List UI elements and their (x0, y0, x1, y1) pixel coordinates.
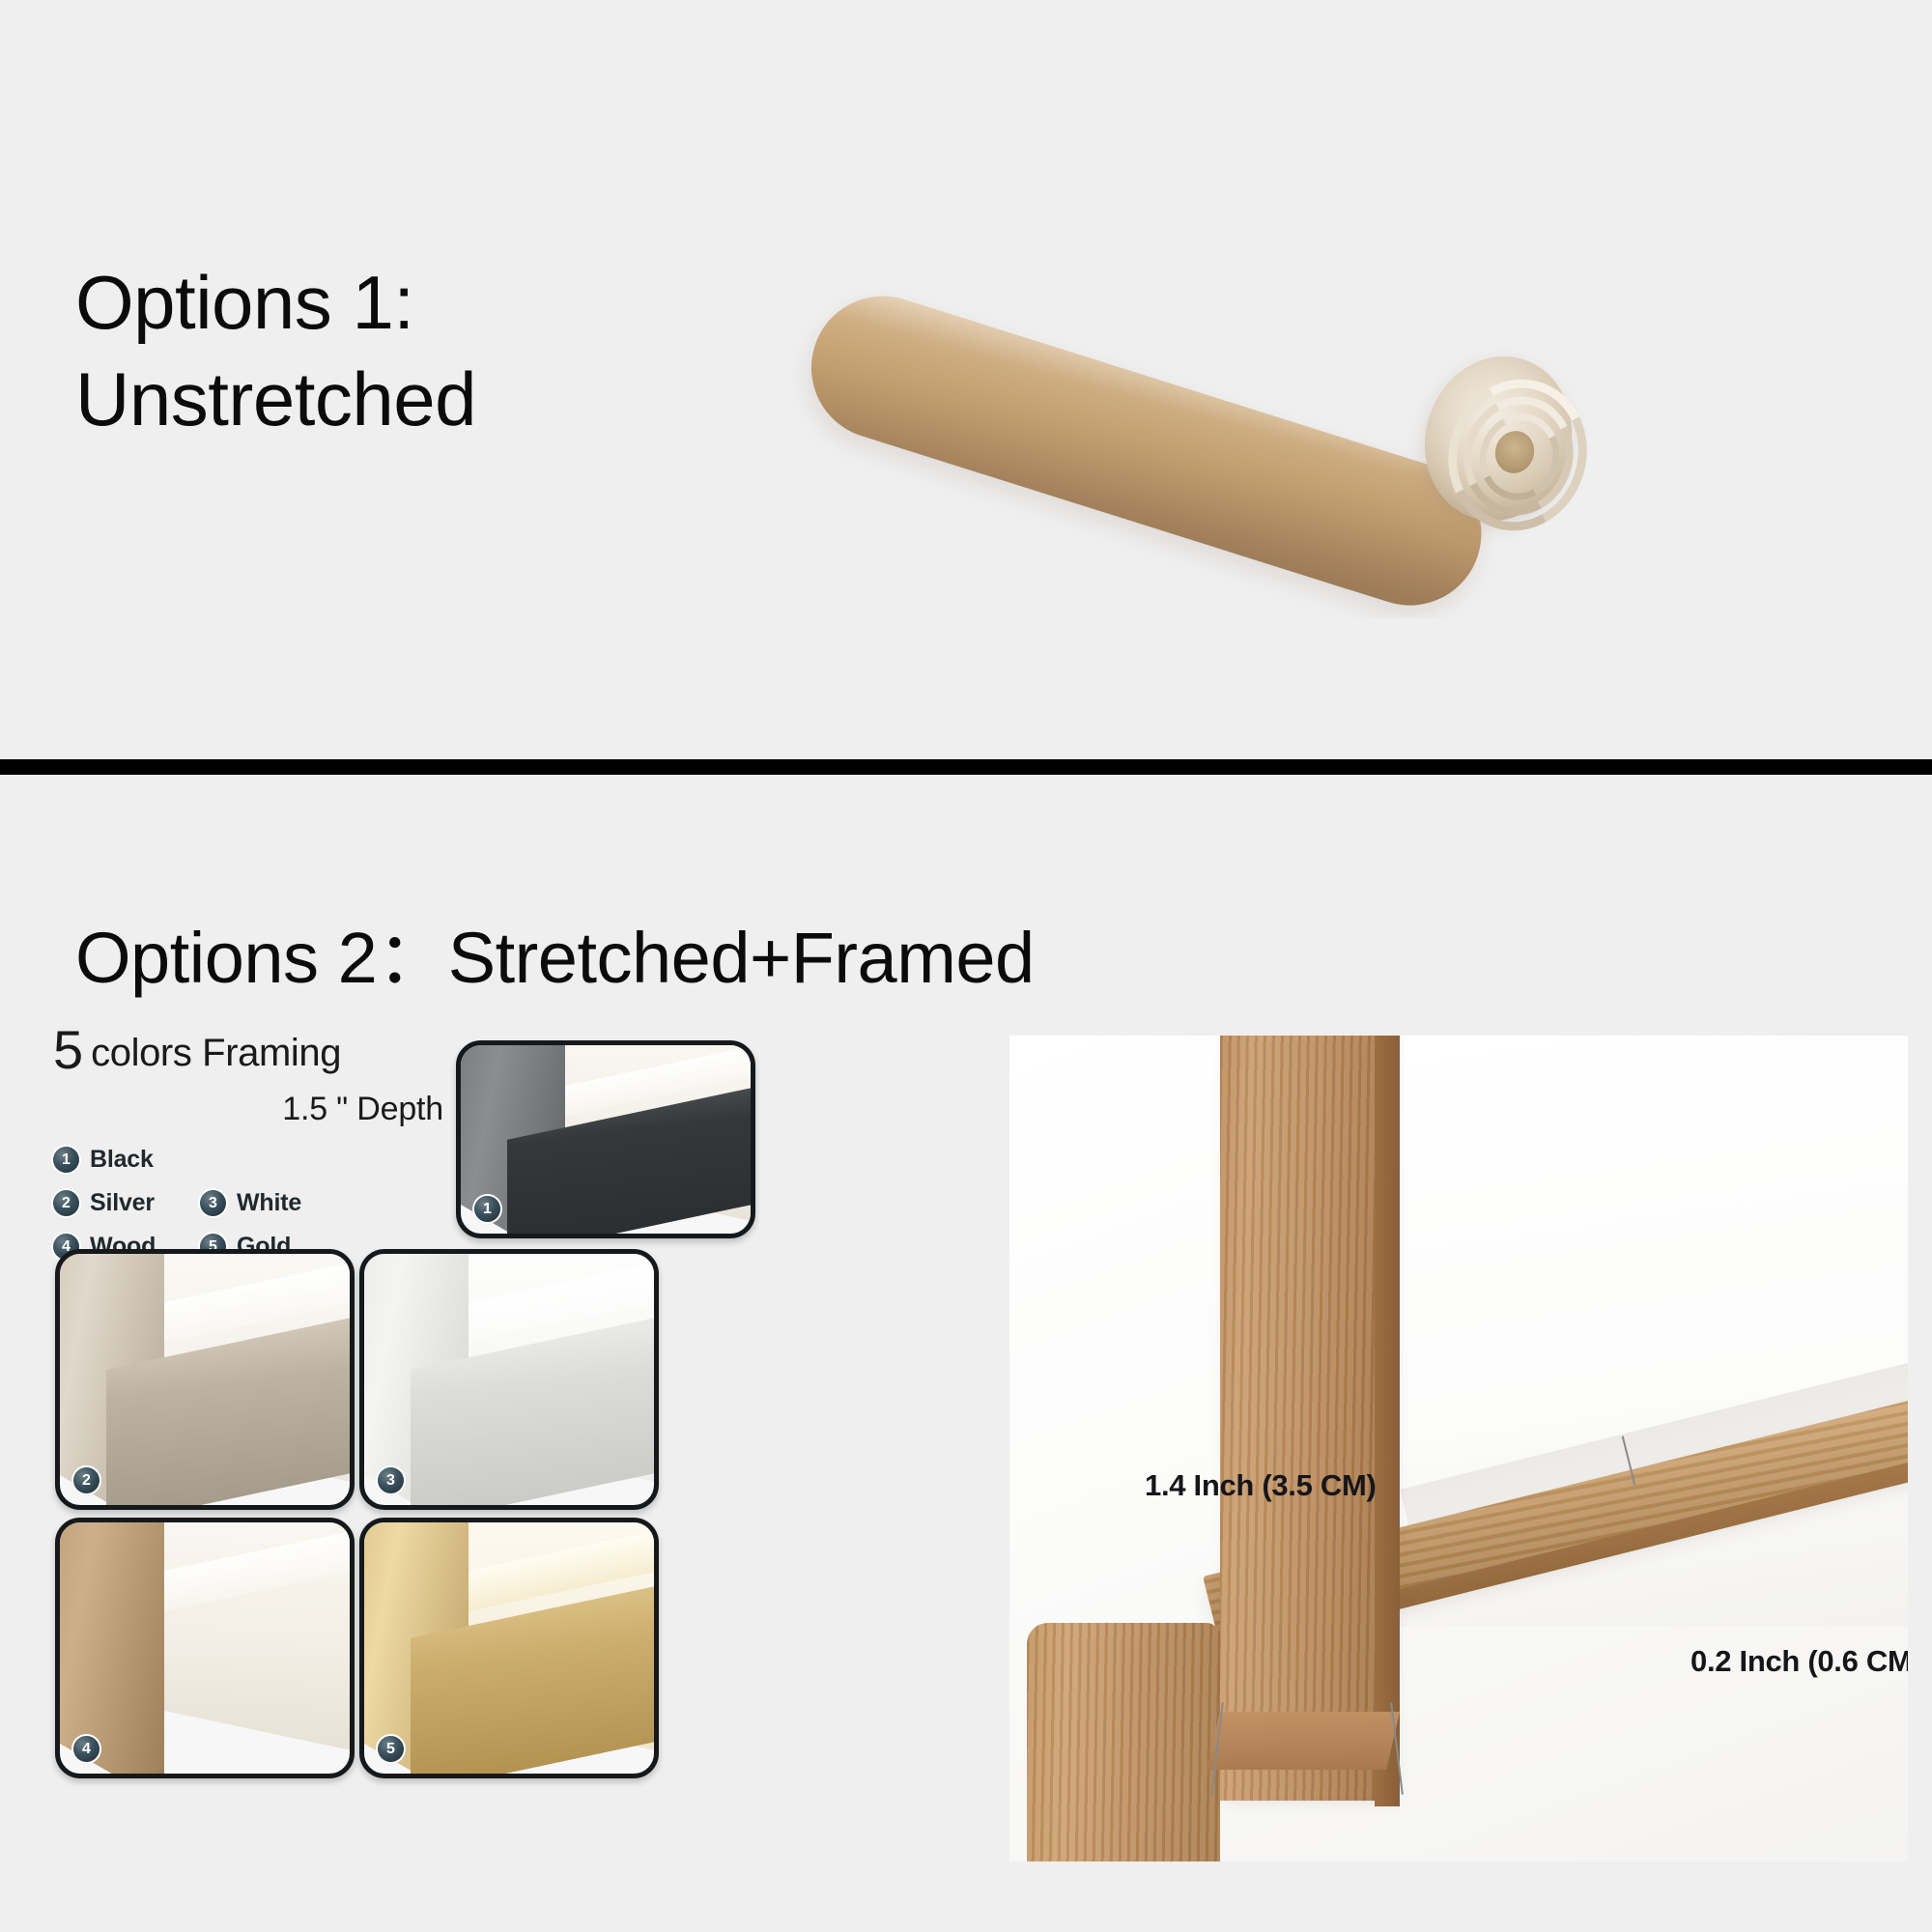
frame-rail-vertical-foot (1207, 1712, 1400, 1770)
section-divider (0, 759, 1932, 775)
frame-corner-block (1027, 1623, 1220, 1861)
legend-item-silver[interactable]: 2 Silver (53, 1189, 200, 1217)
legend-item-white[interactable]: 3 White (200, 1189, 347, 1217)
dimension-label-depth: 1.4 Inch (3.5 CM) (1145, 1468, 1377, 1503)
kraft-tube-body (793, 278, 1499, 618)
number-badge-icon: 4 (73, 1736, 99, 1762)
option-1-heading: Options 1: Unstretched (75, 255, 674, 448)
frame-swatch-gold[interactable]: 5 (359, 1518, 659, 1778)
legend-color-count: 5 (53, 1019, 82, 1080)
frame-swatch-black[interactable]: 1 (456, 1040, 755, 1238)
frame-corner-illustration (60, 1522, 350, 1774)
dimension-label-thickness: 0.2 Inch (0.6 CM) (1690, 1644, 1908, 1679)
number-badge-icon: 3 (200, 1190, 226, 1216)
frame-corner-illustration (60, 1254, 350, 1505)
option-1-panel: Options 1: Unstretched (0, 0, 1932, 758)
number-badge-icon: 5 (378, 1736, 404, 1762)
frame-dimension-photo: 1.4 Inch (3.5 CM) 0.2 Inch (0.6 CM) (1009, 1036, 1908, 1861)
rolled-canvas-tube-photo (773, 116, 1797, 618)
option-2-heading: Options 2：Stretched+Framed (75, 900, 1035, 1004)
number-badge-icon: 3 (378, 1467, 404, 1493)
frame-corner-illustration (364, 1254, 654, 1505)
frame-swatch-wood[interactable]: 4 (55, 1518, 355, 1778)
legend-title-text: colors Framing (91, 1032, 341, 1074)
legend-swatch-list: 1 Black 2 Silver 3 White 4 Wood (53, 1146, 372, 1260)
legend-item-label: Black (90, 1146, 154, 1174)
frame-corner-illustration (364, 1522, 654, 1774)
frame-swatch-white[interactable]: 3 (359, 1249, 659, 1510)
number-badge-icon: 1 (474, 1196, 500, 1222)
number-badge-icon: 2 (53, 1190, 79, 1216)
frame-swatch-silver[interactable]: 2 (55, 1249, 355, 1510)
legend-item-label: White (237, 1189, 301, 1217)
legend-row: 2 Silver 3 White (53, 1189, 372, 1216)
legend-item-label: Silver (90, 1189, 155, 1217)
number-badge-icon: 1 (53, 1147, 79, 1173)
frame-rail-vertical-edge (1375, 1036, 1400, 1806)
frame-corner-illustration (461, 1045, 751, 1234)
framing-colors-legend: 5colors Framing 1.5 " Depth 1 Black 2 Si… (53, 1018, 449, 1276)
legend-title: 5colors Framing (53, 1018, 449, 1081)
number-badge-icon: 2 (73, 1467, 99, 1493)
legend-row: 1 Black (53, 1146, 372, 1173)
frame-rail-vertical (1220, 1036, 1389, 1801)
legend-depth-text: 1.5 " Depth (53, 1091, 449, 1128)
legend-item-black[interactable]: 1 Black (53, 1146, 200, 1174)
